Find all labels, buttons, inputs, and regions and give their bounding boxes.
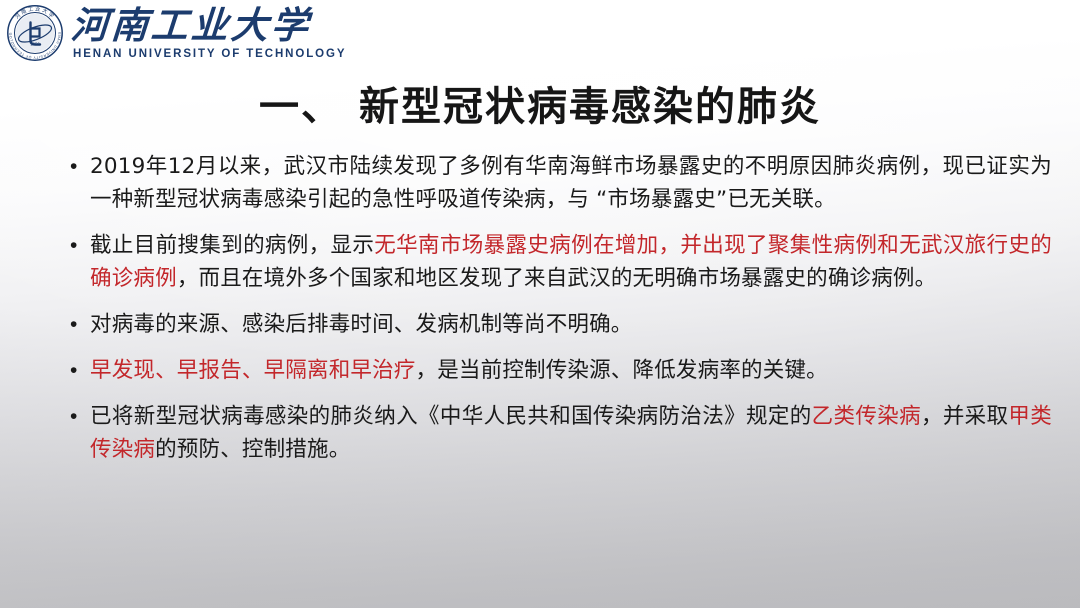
plain-text: 的预防、控制措施。 (155, 437, 350, 462)
bullet-marker-icon: • (64, 354, 90, 387)
plain-text: 对病毒的来源、感染后排毒时间、发病机制等尚不明确。 (90, 312, 633, 337)
plain-text: ，而且在境外多个国家和地区发现了来自武汉的无明确市场暴露史的确诊病例。 (177, 266, 937, 291)
bullet-marker-icon: • (64, 400, 90, 433)
highlighted-text: 早发现、早报告、早隔离和早治疗 (90, 358, 416, 383)
bullet-marker-icon: • (64, 150, 90, 183)
bullet-item: •已将新型冠状病毒感染的肺炎纳入《中华人民共和国传染病防治法》规定的乙类传染病，… (64, 400, 1052, 466)
plain-text: 截止目前搜集到的病例，显示 (90, 233, 374, 258)
bullet-text: 已将新型冠状病毒感染的肺炎纳入《中华人民共和国传染病防治法》规定的乙类传染病，并… (90, 400, 1052, 466)
bullet-item: •早发现、早报告、早隔离和早治疗，是当前控制传染源、降低发病率的关键。 (64, 354, 1052, 387)
logo-chinese-name: 河南工业大学 (70, 7, 348, 44)
plain-text: ，是当前控制传染源、降低发病率的关键。 (416, 358, 828, 383)
university-logo: 1956 河南工业大学 HENAN UNIVERSITY OF TECHNOLO… (6, 4, 346, 62)
highlighted-text: 乙类传染病 (812, 404, 921, 429)
page-title: 一、 新型冠状病毒感染的肺炎 (0, 74, 1080, 132)
university-seal-icon: 1956 河南工业大学 HENAN UNIVERSITY OF TECHNOLO… (6, 4, 64, 62)
plain-text: 已将新型冠状病毒感染的肺炎纳入《中华人民共和国传染病防治法》规定的 (90, 404, 812, 429)
bullet-item: •2019年12月以来，武汉市陆续发现了多例有华南海鲜市场暴露史的不明原因肺炎病… (64, 150, 1052, 216)
bullet-item: •对病毒的来源、感染后排毒时间、发病机制等尚不明确。 (64, 308, 1052, 341)
plain-text: ，并采取 (921, 404, 1008, 429)
bullet-text: 截止目前搜集到的病例，显示无华南市场暴露史病例在增加，并出现了聚集性病例和无武汉… (90, 229, 1052, 295)
svg-text:1956: 1956 (30, 42, 40, 47)
bullet-text: 对病毒的来源、感染后排毒时间、发病机制等尚不明确。 (90, 308, 1052, 341)
bullet-text: 早发现、早报告、早隔离和早治疗，是当前控制传染源、降低发病率的关键。 (90, 354, 1052, 387)
bullet-marker-icon: • (64, 229, 90, 262)
bullet-marker-icon: • (64, 308, 90, 341)
slide-canvas: 1956 河南工业大学 HENAN UNIVERSITY OF TECHNOLO… (0, 0, 1080, 608)
plain-text: 2019年12月以来，武汉市陆续发现了多例有华南海鲜市场暴露史的不明原因肺炎病例… (90, 154, 1052, 212)
logo-wordmark: 河南工业大学 HENAN UNIVERSITY OF TECHNOLOGY (71, 5, 346, 61)
bullet-item: •截止目前搜集到的病例，显示无华南市场暴露史病例在增加，并出现了聚集性病例和无武… (64, 229, 1052, 295)
bullet-text: 2019年12月以来，武汉市陆续发现了多例有华南海鲜市场暴露史的不明原因肺炎病例… (90, 150, 1052, 216)
logo-english-name: HENAN UNIVERSITY OF TECHNOLOGY (73, 49, 346, 61)
bullet-list: •2019年12月以来，武汉市陆续发现了多例有华南海鲜市场暴露史的不明原因肺炎病… (64, 150, 1052, 479)
